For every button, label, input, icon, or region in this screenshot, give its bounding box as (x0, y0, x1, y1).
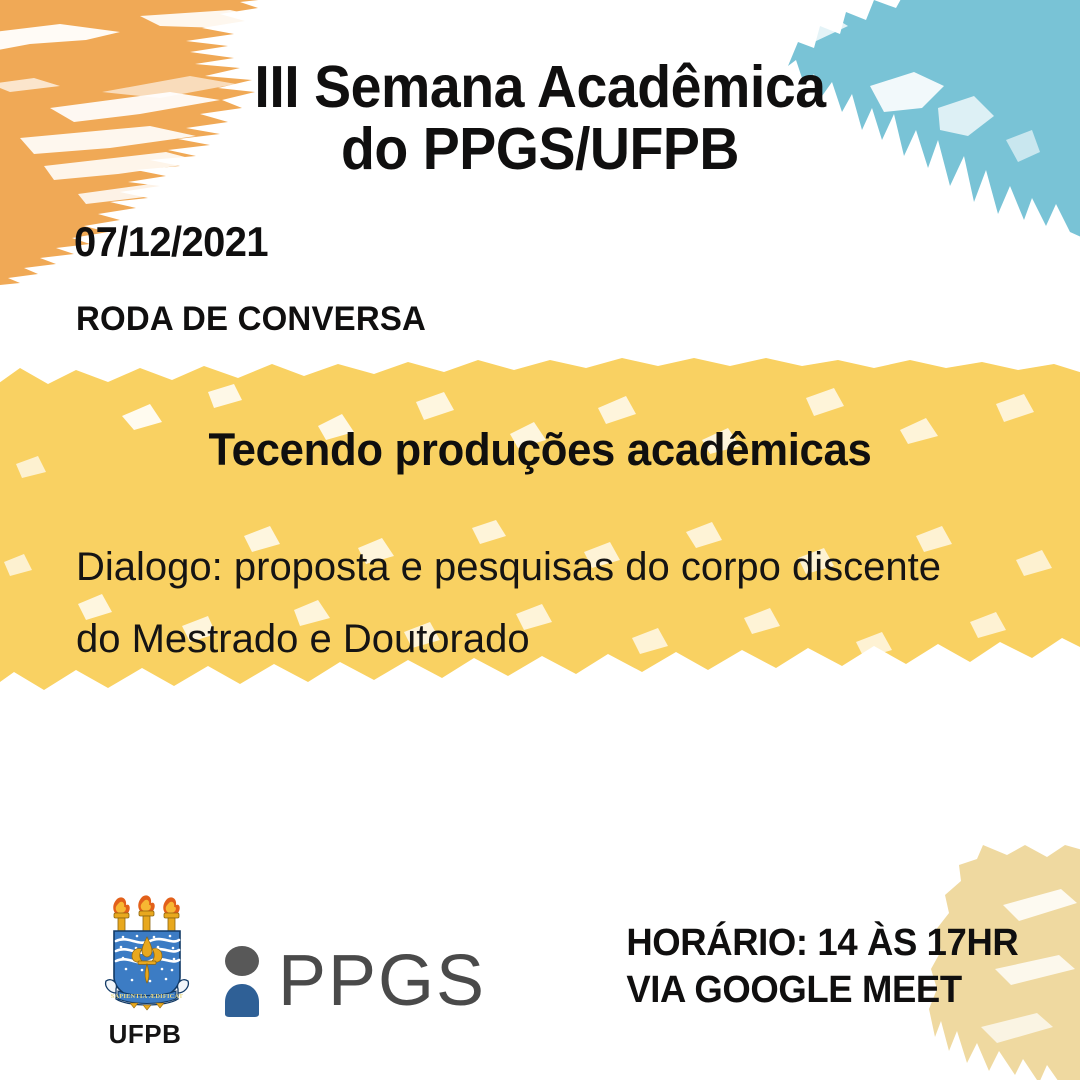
ufpb-logo: SAPIENTIA ÆDIFICAT UFPB (72, 893, 218, 1050)
ufpb-crest-motto: SAPIENTIA ÆDIFICAT (111, 993, 184, 1000)
ppgs-person-icon (222, 944, 262, 1018)
title-line-2: do PPGS/UFPB (32, 118, 1047, 180)
title-line-1: III Semana Acadêmica (32, 56, 1047, 118)
schedule-platform: VIA GOOGLE MEET (626, 967, 1018, 1014)
session-description-line-2: do Mestrado e Doutorado (76, 603, 1006, 675)
schedule-info: HORÁRIO: 14 ÀS 17HR VIA GOOGLE MEET (610, 920, 1018, 1014)
ppgs-logo: PPGS (222, 944, 486, 1018)
ppgs-wordmark: PPGS (278, 945, 486, 1017)
ufpb-crest-icon: SAPIENTIA ÆDIFICAT (92, 893, 198, 1017)
event-date: 07/12/2021 (74, 218, 268, 266)
session-title: Tecendo produções acadêmicas (16, 424, 1064, 476)
event-poster: III Semana Acadêmica do PPGS/UFPB 07/12/… (0, 0, 1080, 1080)
poster-title: III Semana Acadêmica do PPGS/UFPB (0, 56, 1080, 180)
session-description-line-1: Dialogo: proposta e pesquisas do corpo d… (76, 545, 941, 589)
event-format-label: RODA DE CONVERSA (76, 300, 426, 339)
schedule-time: HORÁRIO: 14 ÀS 17HR (626, 920, 1018, 967)
session-description: Dialogo: proposta e pesquisas do corpo d… (76, 531, 1006, 747)
ufpb-label: UFPB (72, 1019, 218, 1050)
